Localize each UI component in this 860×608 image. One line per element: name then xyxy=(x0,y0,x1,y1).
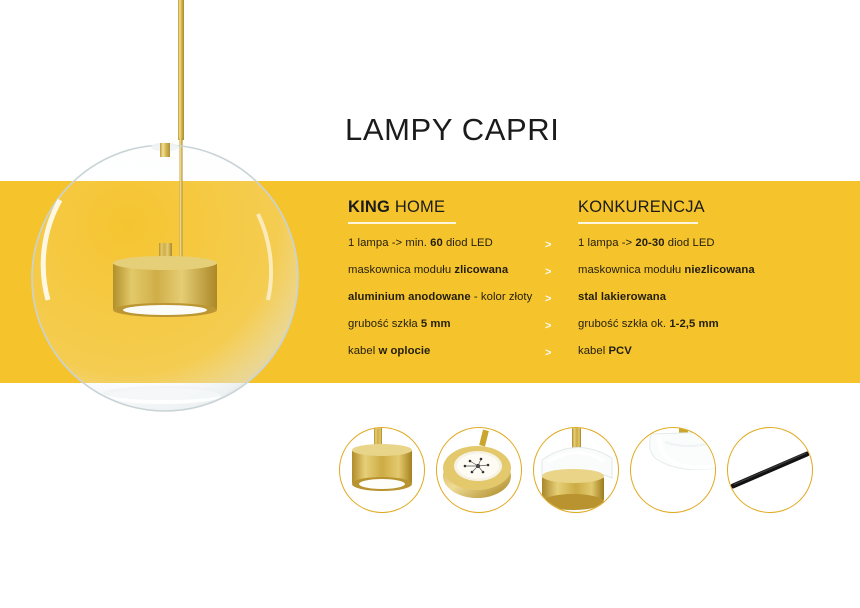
feature-post: diod LED xyxy=(665,237,715,249)
chevron-right-icon: > xyxy=(545,293,551,320)
chevron-right-icon: > xyxy=(545,239,551,266)
feature-bold: stal lakierowana xyxy=(578,291,666,303)
feature-row: 1 lampa -> 20-30 diod LED xyxy=(578,237,793,264)
feature-row: grubość szkła ok. 1-2,5 mm xyxy=(578,318,793,345)
feature-post: diod LED xyxy=(443,237,493,249)
feature-pre: kabel xyxy=(578,345,608,357)
column-header-konkurencja: KONKURENCJA xyxy=(578,198,793,222)
feature-row: kabel w oplocie xyxy=(348,345,538,372)
product-comparison-page: LAMPY CAPRI KING HOME 1 lampa -> min. 60… xyxy=(0,0,860,608)
feature-pre: maskownica modułu xyxy=(578,264,684,276)
feature-row: kabel PCV xyxy=(578,345,793,372)
column-header-light: KONKURENCJA xyxy=(578,198,705,216)
header-underline xyxy=(578,222,698,224)
page-title: LAMPY CAPRI xyxy=(345,112,560,148)
separator-column: > > > > > xyxy=(545,239,551,374)
feature-pre: 1 lampa -> xyxy=(578,237,635,249)
column-header-bold: KING xyxy=(348,198,390,216)
feature-row: aluminium anodowane - kolor złoty xyxy=(348,291,538,318)
feature-bold: zlicowana xyxy=(454,264,508,276)
chevron-right-icon: > xyxy=(545,320,551,347)
detail-thumbnails xyxy=(0,427,860,517)
thumbnail-gold-module-cylinder xyxy=(339,427,425,513)
column-king-home: KING HOME 1 lampa -> min. 60 diod LED ma… xyxy=(348,198,538,372)
feature-row: 1 lampa -> min. 60 diod LED xyxy=(348,237,538,264)
chevron-right-icon: > xyxy=(545,266,551,293)
feature-row: stal lakierowana xyxy=(578,291,793,318)
feature-bold: w oplocie xyxy=(378,345,430,357)
column-header-light: HOME xyxy=(390,198,445,216)
feature-pre: grubość szkła ok. xyxy=(578,318,669,330)
header-underline xyxy=(348,222,456,224)
feature-post: - kolor złoty xyxy=(471,291,533,303)
column-konkurencja: KONKURENCJA 1 lampa -> 20-30 diod LED ma… xyxy=(578,198,793,372)
feature-row: maskownica modułu niezlicowana xyxy=(578,264,793,291)
feature-bold: PCV xyxy=(608,345,631,357)
feature-bold: 1-2,5 mm xyxy=(669,318,718,330)
column-header-king-home: KING HOME xyxy=(348,198,538,222)
thumbnail-braided-cable xyxy=(727,427,813,513)
chevron-right-icon: > xyxy=(545,347,551,374)
feature-pre: maskownica modułu xyxy=(348,264,454,276)
feature-bold: 5 mm xyxy=(421,318,451,330)
feature-bold: 60 xyxy=(430,237,443,249)
thumbnail-led-diode-board xyxy=(436,427,522,513)
feature-bold: aluminium anodowane xyxy=(348,291,471,303)
feature-bold: 20-30 xyxy=(635,237,664,249)
thumbnail-glass-globe-gold-module xyxy=(533,427,619,513)
feature-pre: grubość szkła xyxy=(348,318,421,330)
feature-row: grubość szkła 5 mm xyxy=(348,318,538,345)
feature-bold: niezlicowana xyxy=(684,264,754,276)
feature-pre: 1 lampa -> min. xyxy=(348,237,430,249)
feature-row: maskownica modułu zlicowana xyxy=(348,264,538,291)
thumbnail-glass-edge xyxy=(630,427,716,513)
comparison-table: KING HOME 1 lampa -> min. 60 diod LED ma… xyxy=(0,181,860,383)
feature-pre: kabel xyxy=(348,345,378,357)
